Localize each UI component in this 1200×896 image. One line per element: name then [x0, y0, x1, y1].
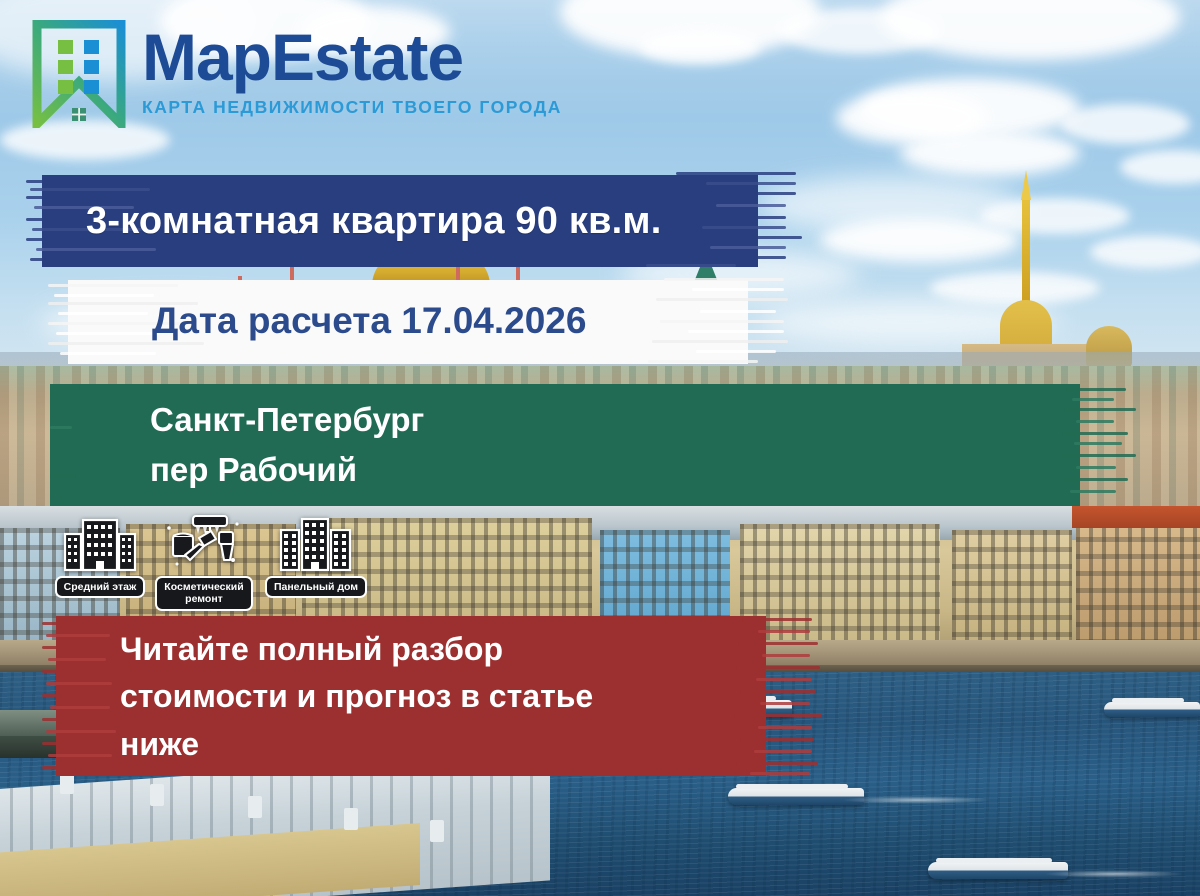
badge-label: Панельный дом — [265, 576, 367, 598]
chimney — [344, 808, 358, 830]
brand-wordmark: MapEstate КАРТА НЕДВИЖИМОСТИ ТВОЕГО ГОРО… — [142, 24, 562, 118]
brand-name-part2: Estate — [271, 20, 463, 94]
date-banner: Дата расчета 17.04.2026 — [48, 268, 776, 374]
badge-label: Косметический ремонт — [155, 576, 252, 611]
cta-text: Читайте полный разбор стоимости и прогно… — [42, 626, 593, 767]
title-text: 3-комнатная квартира 90 кв.м. — [26, 200, 661, 243]
bookmark-building-icon — [32, 20, 126, 128]
address-text: Санкт-Петербург пер Рабочий — [50, 395, 424, 495]
chimney — [248, 796, 262, 818]
cta-line-2: стоимости и прогноз в статье — [120, 673, 593, 720]
cloud — [640, 30, 760, 64]
badge-middle-floor: Средний этаж — [44, 512, 156, 598]
badge-panel-house: Панельный дом — [260, 512, 372, 598]
brand-name: MapEstate — [142, 24, 562, 90]
boat-wake — [842, 796, 992, 804]
chimney — [430, 820, 444, 842]
cta-banner: Читайте полный разбор стоимости и прогно… — [42, 608, 822, 786]
cloud — [1060, 104, 1190, 144]
date-text: Дата расчета 17.04.2026 — [48, 300, 586, 342]
cta-line-1: Читайте полный разбор — [120, 626, 593, 673]
cloud — [1090, 236, 1200, 268]
boat — [928, 862, 1068, 879]
brand-tagline: КАРТА НЕДВИЖИМОСТИ ТВОЕГО ГОРОДА — [142, 97, 562, 118]
cloud — [900, 130, 1080, 176]
paint-tools-icon — [148, 512, 260, 574]
address-street: пер Рабочий — [150, 445, 424, 495]
cloud — [930, 272, 1100, 304]
bus — [1104, 702, 1200, 717]
chimney — [150, 784, 164, 806]
building-ochre — [1076, 520, 1200, 646]
title-banner: 3-комнатная квартира 90 кв.м. — [26, 166, 786, 276]
address-city: Санкт-Петербург — [150, 395, 424, 445]
poster-canvas: MapEstate КАРТА НЕДВИЖИМОСТИ ТВОЕГО ГОРО… — [0, 0, 1200, 896]
badge-label: Средний этаж — [55, 576, 146, 598]
brand-logo[interactable]: MapEstate КАРТА НЕДВИЖИМОСТИ ТВОЕГО ГОРО… — [30, 18, 550, 130]
boat-wake — [1044, 870, 1184, 878]
feature-badges: Средний этаж — [44, 512, 384, 608]
panel-building-icon — [260, 512, 372, 574]
cloud — [820, 218, 1020, 262]
address-banner: Санкт-Петербург пер Рабочий — [50, 378, 1140, 512]
badge-cosmetic-repair: Косметический ремонт — [148, 512, 260, 611]
building-beige — [952, 530, 1072, 646]
boat — [728, 788, 864, 805]
office-building-icon — [44, 512, 156, 574]
brand-name-part1: Map — [142, 20, 271, 94]
cta-line-3: ниже — [120, 721, 593, 768]
